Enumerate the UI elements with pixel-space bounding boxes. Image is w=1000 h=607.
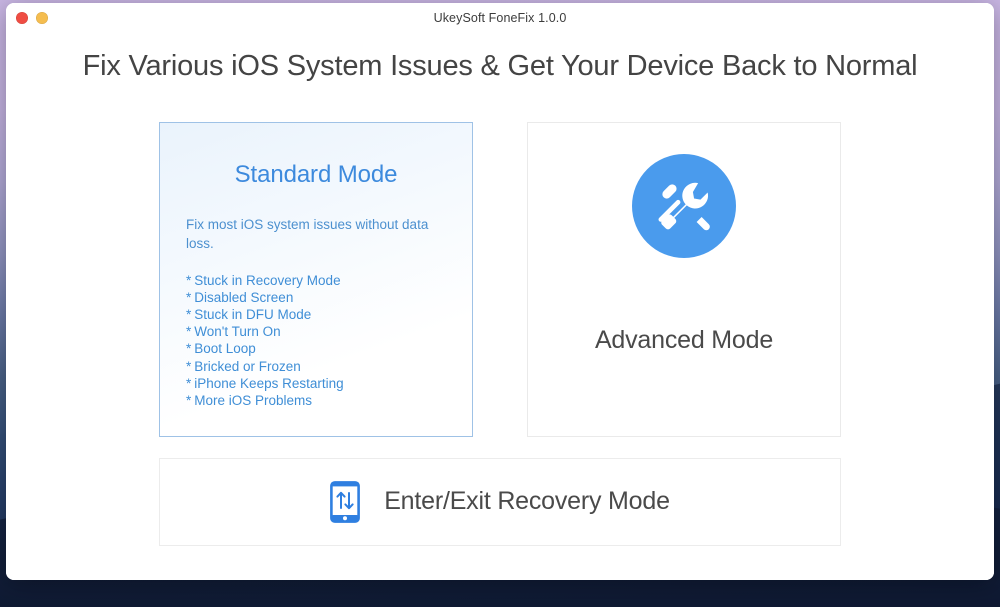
mode-cards-row: Standard Mode Fix most iOS system issues… <box>159 122 841 437</box>
application-window: UkeySoft FoneFix 1.0.0 Fix Various iOS S… <box>6 3 994 580</box>
list-item: *Disabled Screen <box>186 289 446 306</box>
advanced-mode-title: Advanced Mode <box>595 326 773 355</box>
phone-up-down-arrows-icon <box>330 481 360 523</box>
list-item-label: Stuck in Recovery Mode <box>194 273 340 288</box>
list-item-label: Stuck in DFU Mode <box>194 307 311 322</box>
list-item: *More iOS Problems <box>186 392 446 409</box>
list-item-label: Bricked or Frozen <box>194 359 301 374</box>
standard-mode-description: Fix most iOS system issues without data … <box>160 215 472 254</box>
bullet-star-icon: * <box>186 376 191 391</box>
bullet-star-icon: * <box>186 393 191 408</box>
list-item-label: Boot Loop <box>194 341 256 356</box>
minimize-button-icon[interactable] <box>36 12 48 24</box>
desktop-background: UkeySoft FoneFix 1.0.0 Fix Various iOS S… <box>0 0 1000 607</box>
list-item-label: iPhone Keeps Restarting <box>194 376 343 391</box>
standard-mode-card[interactable]: Standard Mode Fix most iOS system issues… <box>159 122 473 437</box>
bullet-star-icon: * <box>186 273 191 288</box>
standard-mode-title: Standard Mode <box>160 161 472 189</box>
list-item: *Stuck in Recovery Mode <box>186 272 446 289</box>
bullet-star-icon: * <box>186 359 191 374</box>
list-item: *iPhone Keeps Restarting <box>186 375 446 392</box>
list-item: *Boot Loop <box>186 340 446 357</box>
advanced-mode-card[interactable]: Advanced Mode <box>527 122 841 437</box>
window-title: UkeySoft FoneFix 1.0.0 <box>6 11 994 25</box>
list-item-label: Won't Turn On <box>194 324 280 339</box>
close-button-icon[interactable] <box>16 12 28 24</box>
bullet-star-icon: * <box>186 307 191 322</box>
list-item: *Won't Turn On <box>186 323 446 340</box>
enter-exit-recovery-mode-button[interactable]: Enter/Exit Recovery Mode <box>159 458 841 546</box>
list-item-label: Disabled Screen <box>194 290 293 305</box>
main-content: Fix Various iOS System Issues & Get Your… <box>6 33 994 580</box>
list-item-label: More iOS Problems <box>194 393 312 408</box>
standard-mode-issue-list: *Stuck in Recovery Mode *Disabled Screen… <box>160 272 472 409</box>
list-item: *Stuck in DFU Mode <box>186 306 446 323</box>
page-title: Fix Various iOS System Issues & Get Your… <box>83 49 918 84</box>
bullet-star-icon: * <box>186 341 191 356</box>
window-controls <box>16 12 48 24</box>
title-bar: UkeySoft FoneFix 1.0.0 <box>6 3 994 33</box>
tools-wrench-screwdriver-icon <box>632 154 736 258</box>
bullet-star-icon: * <box>186 290 191 305</box>
recovery-mode-label: Enter/Exit Recovery Mode <box>384 487 670 516</box>
bullet-star-icon: * <box>186 324 191 339</box>
list-item: *Bricked or Frozen <box>186 358 446 375</box>
